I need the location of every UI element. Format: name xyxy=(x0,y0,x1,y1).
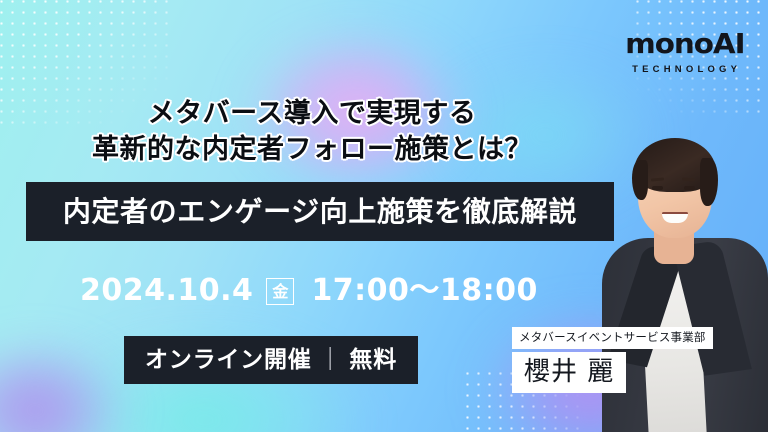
attendance-separator: ｜ xyxy=(319,349,343,372)
subtitle-text: 内定者のエンゲージ向上施策を徹底解説 xyxy=(63,198,577,226)
monoai-logo: monoAI TECHNOLOGY xyxy=(628,30,742,75)
event-time: 17:00〜18:00 xyxy=(311,276,538,306)
speaker-eye-left xyxy=(652,186,663,190)
speaker-department: メタバースイベントサービス事業部 xyxy=(512,327,713,349)
event-date: 2024.10.4 xyxy=(80,276,253,306)
attendance-badge: オンライン開催｜無料 xyxy=(124,336,418,384)
speaker-hair-right xyxy=(700,158,718,206)
subtitle-bar: 内定者のエンゲージ向上施策を徹底解説 xyxy=(26,182,614,241)
schedule-row: 2024.10.4 金 17:00〜18:00 xyxy=(80,276,538,306)
logo-wordmark: monoAI xyxy=(625,30,744,58)
logo-tagline: TECHNOLOGY xyxy=(628,65,742,75)
speaker-hair-left xyxy=(632,160,648,200)
webinar-banner: monoAI TECHNOLOGY メタバース導入で実現する 革新的な内定者フォ… xyxy=(0,0,768,432)
event-day-of-week: 金 xyxy=(266,278,294,305)
speaker-name: 櫻井 麗 xyxy=(512,352,626,393)
speaker-eye-right xyxy=(684,186,695,190)
attendance-price: 無料 xyxy=(349,347,397,373)
attendance-format: オンライン開催 xyxy=(145,347,312,373)
headline-line-2: 革新的な内定者フォロー施策とは？ xyxy=(0,132,624,168)
headline-line-1: メタバース導入で実現する xyxy=(0,96,624,132)
attendance-text: オンライン開催｜無料 xyxy=(145,349,397,372)
headline: メタバース導入で実現する 革新的な内定者フォロー施策とは？ xyxy=(0,96,624,168)
